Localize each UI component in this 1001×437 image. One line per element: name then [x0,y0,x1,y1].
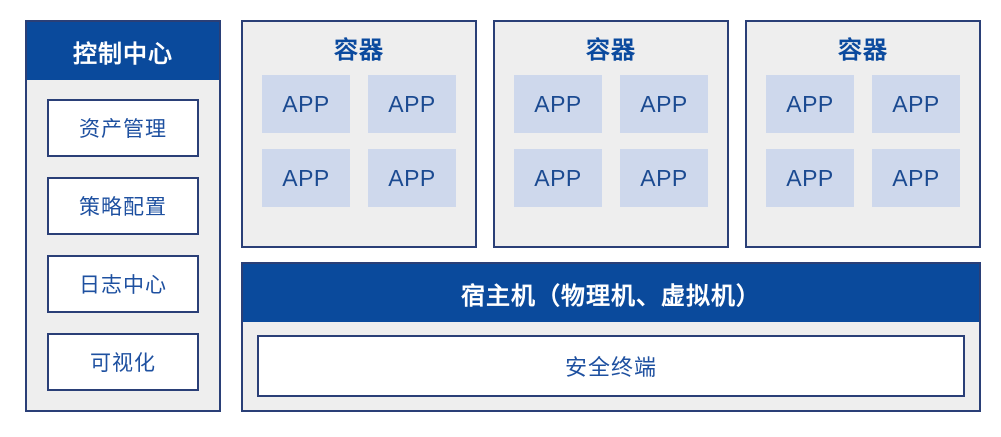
app-grid: APP APP APP APP [514,75,708,207]
app-box[interactable]: APP [514,75,602,133]
container-title: 容器 [334,39,384,63]
control-center-title: 控制中心 [27,22,219,80]
app-box[interactable]: APP [262,75,350,133]
control-item-label: 资产管理 [79,113,167,143]
app-box[interactable]: APP [368,75,456,133]
container-panel-2: 容器 APP APP APP APP [493,20,729,248]
control-item-label: 可视化 [90,347,156,377]
app-box[interactable]: APP [514,149,602,207]
app-box[interactable]: APP [872,149,960,207]
app-grid: APP APP APP APP [766,75,960,207]
app-grid: APP APP APP APP [262,75,456,207]
control-center-item-list: 资产管理 策略配置 日志中心 可视化 [27,80,219,410]
control-center-panel: 控制中心 资产管理 策略配置 日志中心 可视化 [25,20,221,412]
app-box[interactable]: APP [872,75,960,133]
container-panel-3: 容器 APP APP APP APP [745,20,981,248]
app-box[interactable]: APP [620,75,708,133]
app-box[interactable]: APP [766,75,854,133]
host-machine-panel: 宿主机（物理机、虚拟机） 安全终端 [241,262,981,412]
control-item-log-center[interactable]: 日志中心 [47,255,199,313]
control-item-label: 日志中心 [79,269,167,299]
host-machine-body: 安全终端 [243,322,979,410]
app-box[interactable]: APP [262,149,350,207]
control-item-policy-config[interactable]: 策略配置 [47,177,199,235]
app-box[interactable]: APP [620,149,708,207]
security-endpoint-label: 安全终端 [565,350,657,382]
container-panel-1: 容器 APP APP APP APP [241,20,477,248]
control-item-visualization[interactable]: 可视化 [47,333,199,391]
app-box[interactable]: APP [766,149,854,207]
architecture-diagram: 控制中心 资产管理 策略配置 日志中心 可视化 容器 APP APP APP A… [0,0,1001,437]
container-title: 容器 [838,39,888,63]
security-endpoint-box[interactable]: 安全终端 [257,335,965,397]
host-machine-title: 宿主机（物理机、虚拟机） [243,264,979,322]
control-item-asset-management[interactable]: 资产管理 [47,99,199,157]
app-box[interactable]: APP [368,149,456,207]
containers-row: 容器 APP APP APP APP 容器 APP APP APP APP 容器… [241,20,981,248]
control-item-label: 策略配置 [79,191,167,221]
container-title: 容器 [586,39,636,63]
